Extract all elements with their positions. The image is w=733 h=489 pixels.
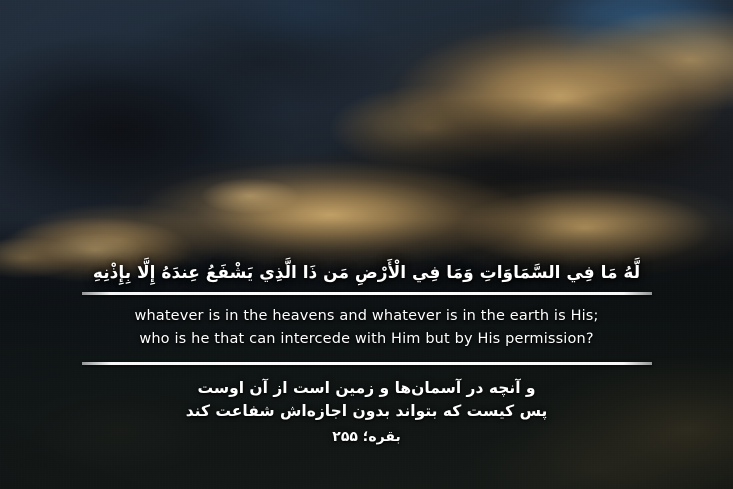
verse-reference-label: بقره؛ ۲۵۵ — [40, 429, 693, 445]
english-translation-line-1: whatever is in the heavens and whatever … — [40, 305, 693, 328]
persian-translation-block: و آنچه در آسمان‌ها و زمین است از آن اوست… — [0, 375, 733, 445]
english-translation-block: whatever is in the heavens and whatever … — [0, 301, 733, 354]
english-translation-line-2: who is he that can intercede with Him bu… — [40, 328, 693, 351]
persian-translation-line-1: و آنچه در آسمان‌ها و زمین است از آن اوست — [40, 377, 693, 401]
verse-text-stack: لَّهُ مَا فِي السَّمَاوَاتِ وَمَا فِي ال… — [0, 262, 733, 445]
divider-rule-bottom — [82, 362, 652, 365]
quran-verse-image: لَّهُ مَا فِي السَّمَاوَاتِ وَمَا فِي ال… — [0, 0, 733, 489]
arabic-verse-line: لَّهُ مَا فِي السَّمَاوَاتِ وَمَا فِي ال… — [0, 262, 733, 285]
persian-translation-line-2: پس کیست که بتواند بدون اجازه‌اش شفاعت کن… — [40, 400, 693, 424]
divider-rule-top — [82, 292, 652, 295]
